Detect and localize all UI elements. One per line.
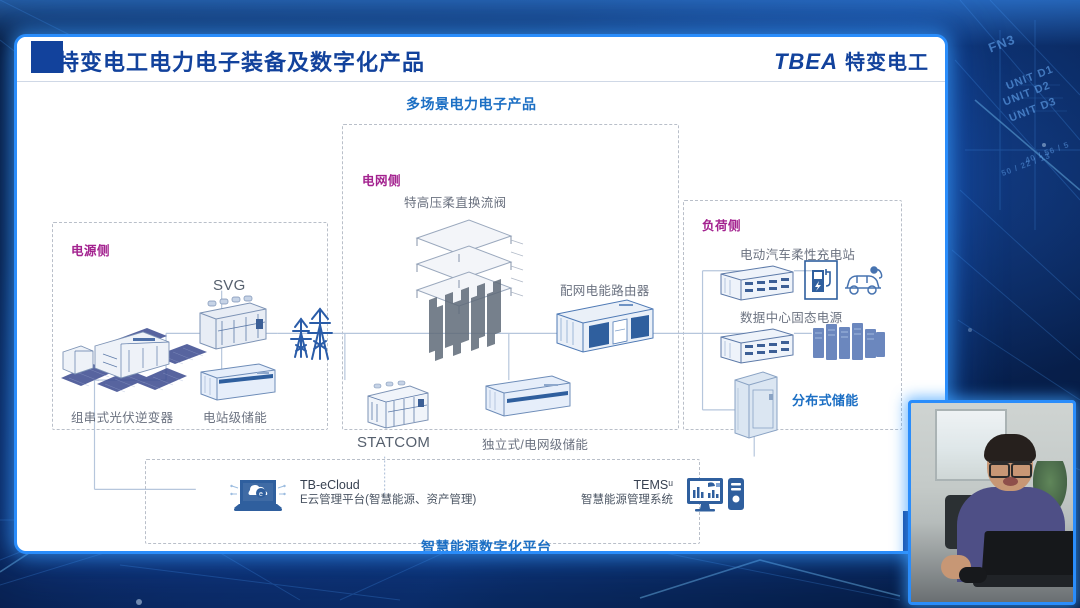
grid-storage-icon [482, 374, 574, 422]
presenter-video-tile[interactable] [908, 400, 1076, 605]
pv-inverter-icon [59, 320, 219, 406]
device-label-independent-grid-storage: 独立式/电网级储能 [482, 434, 588, 453]
platform-desc-tems: 智慧能源管理系统 [563, 493, 673, 508]
presenter-mouse [959, 567, 987, 583]
device-label-energy-router: 配网电能路由器 [560, 280, 650, 299]
statcom-icon [362, 380, 434, 432]
device-label-string-pv-inverter: 组串式光伏逆变器 [71, 407, 173, 426]
svg-text:e: e [259, 491, 263, 498]
diagram-subtitle-bottom: 智慧能源数字化平台 [421, 537, 552, 554]
monitor-server-icon [685, 474, 745, 518]
ev-charger-icon [804, 260, 838, 300]
uhv-converter-valve-icon [407, 212, 525, 372]
platform-desc-tb-ecloud: E云管理平台(智慧能源、资产管理) [300, 493, 476, 508]
device-label-statcom: STATCOM [357, 434, 430, 451]
presenter-laptop-base [973, 575, 1076, 587]
device-label-svg: SVG [213, 277, 246, 294]
datacenter-cabinet-icon [717, 325, 799, 367]
ev-cabinet-icon [717, 262, 799, 304]
logo-text-en: TBEA [774, 49, 838, 75]
platform-name-tems: TEMSᵘ [563, 478, 673, 493]
distributed-storage-icon [729, 370, 783, 440]
slide-canvas: 多场景电力电子产品 电源侧 电网侧 负荷侧 [17, 82, 945, 554]
electric-car-icon [843, 264, 885, 298]
server-racks-icon [811, 320, 887, 366]
device-label-uhv-converter-valve: 特高压柔直换流阀 [404, 192, 506, 211]
device-label-station-storage: 电站级储能 [203, 407, 267, 426]
device-label-distributed-storage: 分布式储能 [792, 390, 859, 409]
presenter-laptop [981, 531, 1076, 581]
slide-header: 特变电工电力电子装备及数字化产品 TBEA 特变电工 [17, 37, 945, 82]
platform-name-tb-ecloud: TB-eCloud [300, 478, 476, 493]
tbea-logo: TBEA 特变电工 [774, 46, 929, 75]
platform-item-tb-ecloud: TB-eCloud E云管理平台(智慧能源、资产管理) [300, 478, 476, 508]
presenter-mouth [1003, 477, 1018, 486]
logo-text-cn: 特变电工 [845, 46, 929, 75]
presenter-glasses [989, 461, 1032, 472]
presentation-slide: 特变电工电力电子装备及数字化产品 TBEA 特变电工 多场景电力电子产品 电源侧… [14, 34, 948, 554]
platform-item-tems: TEMSᵘ 智慧能源管理系统 [563, 478, 673, 508]
laptop-cloud-icon: e [230, 474, 286, 518]
energy-router-icon [553, 298, 657, 356]
page-title: 特变电工电力电子装备及数字化产品 [57, 45, 425, 77]
transmission-tower-icon [289, 307, 335, 365]
station-storage-icon [197, 360, 279, 404]
presenter-hair [984, 434, 1036, 462]
